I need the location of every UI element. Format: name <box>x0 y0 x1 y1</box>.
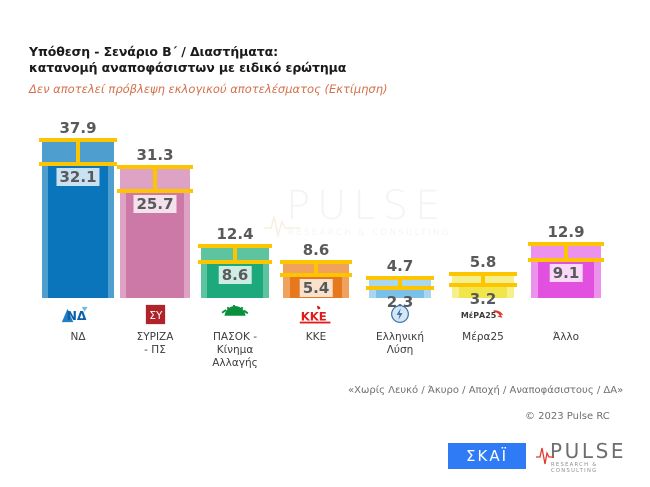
value-cap-allo <box>528 258 604 262</box>
value-cap-nd <box>39 162 117 166</box>
bar-group-syriza[interactable]: 31.325.7 <box>120 133 190 298</box>
axis-item-pasok[interactable]: ΠΑΣΟΚ - Κίνημα Αλλαγής <box>190 301 280 370</box>
upper-cap-elliniki-lysi <box>366 276 434 280</box>
whisker-syriza <box>153 167 157 190</box>
axis-label-syriza: ΣΥΡΙΖΑ - ΠΣ <box>110 331 200 357</box>
bar-group-allo[interactable]: 12.99.1 <box>531 210 601 298</box>
value-cap-mera25 <box>449 283 517 287</box>
bar-group-nd[interactable]: 37.932.1 <box>42 106 114 298</box>
value-label-nd: 32.1 <box>56 168 99 186</box>
whisker-nd <box>76 140 80 164</box>
value-label-allo: 9.1 <box>550 264 583 282</box>
upper-cap-syriza <box>117 165 193 169</box>
nd-logo-icon: ΝΔ <box>59 304 97 325</box>
syriza-logo-icon: ΣΥ <box>145 304 166 325</box>
axis-item-mera25[interactable]: ΜέΡΑ25Μέρα25 <box>438 301 528 344</box>
upper-label-allo: 12.9 <box>547 223 584 241</box>
footnote: «Χωρίς Λευκό / Άκυρο / Αποχή / Αναποφάσι… <box>348 385 623 396</box>
party-logo-allo <box>521 301 611 327</box>
upper-label-nd: 37.9 <box>59 119 96 137</box>
svg-text:ΜέΡΑ25: ΜέΡΑ25 <box>461 310 496 320</box>
value-cap-elliniki-lysi <box>366 286 434 290</box>
copyright: © 2023 Pulse RC <box>525 411 610 422</box>
value-label-kke: 5.4 <box>300 279 333 297</box>
axis-label-pasok: ΠΑΣΟΚ - Κίνημα Αλλαγής <box>190 331 280 370</box>
heartbeat-icon <box>536 444 554 466</box>
bar-group-mera25[interactable]: 5.83.2 <box>452 240 514 298</box>
mera25-logo-icon: ΜέΡΑ25 <box>460 306 506 323</box>
axis-label-kke: ΚΚΕ <box>271 331 361 344</box>
bar-group-elliniki-lysi[interactable]: 4.72.3 <box>369 244 431 298</box>
value-cap-syriza <box>117 189 193 193</box>
value-label-syriza: 25.7 <box>133 195 176 213</box>
kke-logo-icon: ΚΚΕ <box>298 304 334 324</box>
svg-text:ΣΥ: ΣΥ <box>149 309 163 321</box>
axis-item-elliniki-lysi[interactable]: Ελληνική Λύση <box>355 301 445 357</box>
axis-item-kke[interactable]: ΚΚΕΚΚΕ <box>271 301 361 344</box>
upper-label-mera25: 5.8 <box>470 253 497 271</box>
axis-item-allo[interactable]: Άλλο <box>521 301 611 344</box>
upper-cap-kke <box>280 260 352 264</box>
party-logo-pasok <box>190 301 280 327</box>
upper-cap-pasok <box>198 244 272 248</box>
party-logo-kke: ΚΚΕ <box>271 301 361 327</box>
upper-cap-allo <box>528 242 604 246</box>
party-logo-elliniki-lysi <box>355 301 445 327</box>
skai-logo-text: ΣΚΑΪ <box>466 447 508 465</box>
bar-group-pasok[interactable]: 12.48.6 <box>201 212 269 298</box>
pasok-sun-logo-icon <box>216 304 254 325</box>
upper-label-syriza: 31.3 <box>136 146 173 164</box>
value-label-pasok: 8.6 <box>219 266 252 284</box>
elliniki-lysi-logo-icon <box>390 304 410 324</box>
svg-text:ΚΚΕ: ΚΚΕ <box>301 309 327 323</box>
poll-chart: Υπόθεση - Σενάριο Β΄ / Διαστήματα: καταν… <box>0 0 650 487</box>
bar-group-kke[interactable]: 8.65.4 <box>283 228 349 298</box>
value-cap-kke <box>280 273 352 277</box>
upper-label-kke: 8.6 <box>303 241 330 259</box>
upper-cap-mera25 <box>449 272 517 276</box>
axis-label-mera25: Μέρα25 <box>438 331 528 344</box>
skai-logo: ΣΚΑΪ <box>448 443 526 469</box>
svg-text:ΝΔ: ΝΔ <box>67 309 87 323</box>
upper-cap-nd <box>39 138 117 142</box>
value-cap-pasok <box>198 260 272 264</box>
axis-label-elliniki-lysi: Ελληνική Λύση <box>355 331 445 357</box>
upper-label-elliniki-lysi: 4.7 <box>387 257 414 275</box>
axis-label-allo: Άλλο <box>521 331 611 344</box>
upper-label-pasok: 12.4 <box>216 225 253 243</box>
axis-item-syriza[interactable]: ΣΥΣΥΡΙΖΑ - ΠΣ <box>110 301 200 357</box>
party-logo-mera25: ΜέΡΑ25 <box>438 301 528 327</box>
pulse-logo: PULSE RESEARCH & CONSULTING <box>536 441 642 471</box>
party-logo-syriza: ΣΥ <box>110 301 200 327</box>
